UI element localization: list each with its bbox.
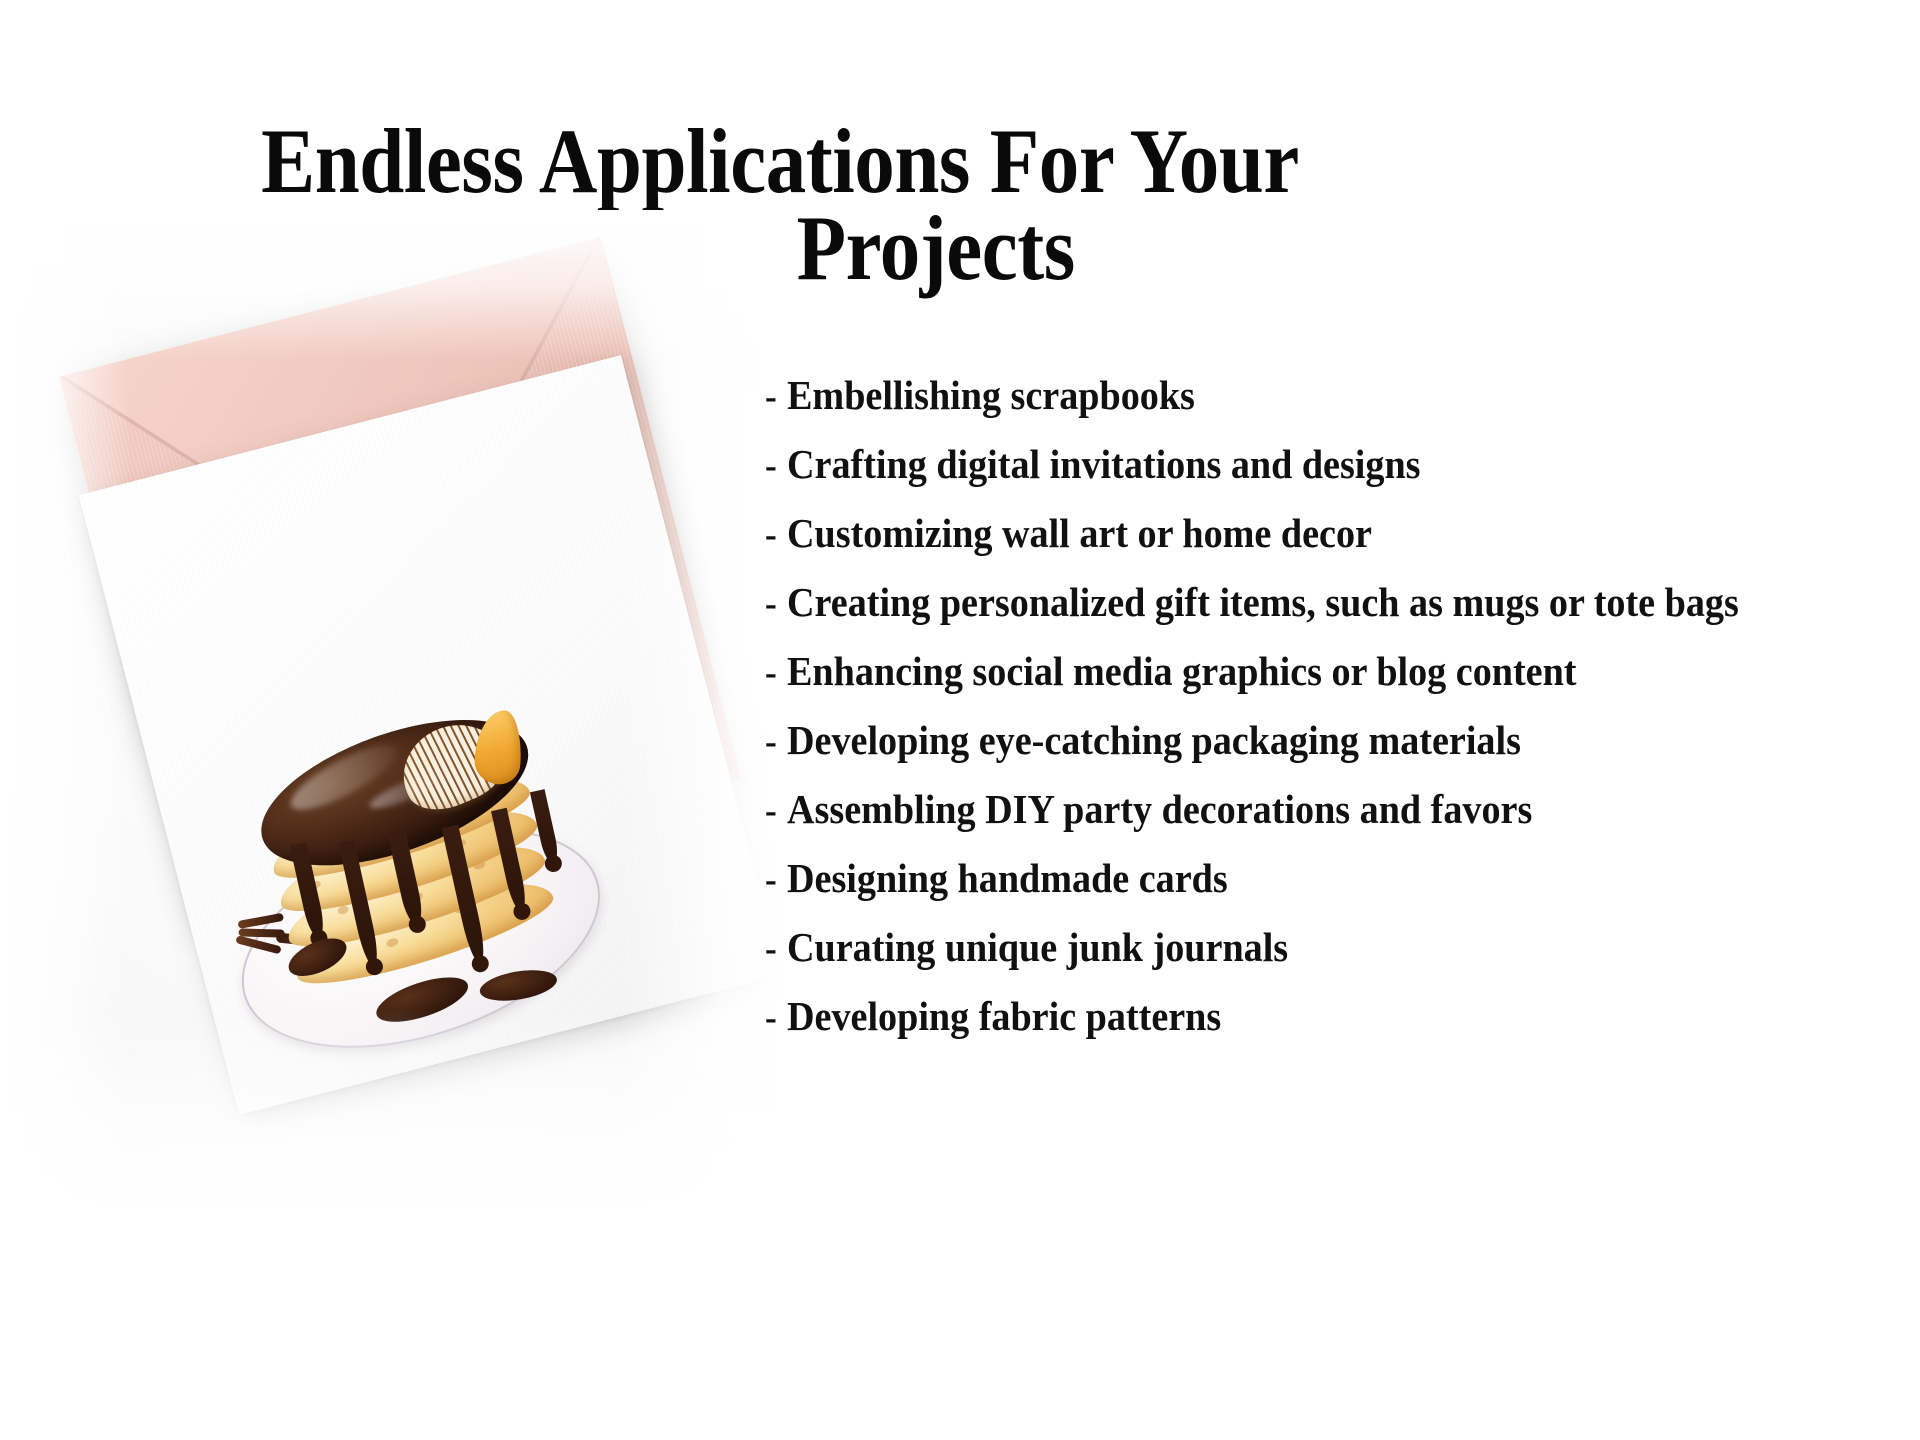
fork-tine (237, 913, 284, 929)
pancake-speck (385, 937, 399, 948)
list-item-label: Customizing wall art or home decor (787, 513, 1372, 554)
list-bullet-dash: - (765, 516, 777, 554)
list-item-label: Creating personalized gift items, such a… (787, 582, 1739, 623)
list-bullet-dash: - (765, 999, 777, 1037)
list-bullet-dash: - (765, 792, 777, 830)
list-item-label: Developing eye-catching packaging materi… (787, 720, 1521, 761)
list-bullet-dash: - (765, 930, 777, 968)
list-bullet-dash: - (765, 723, 777, 761)
list-item-label: Crafting digital invitations and designs (787, 444, 1421, 485)
list-item-label: Curating unique junk journals (787, 927, 1288, 968)
fork-tine (235, 935, 282, 954)
page-title-line-1: Endless Applications For Your (94, 118, 1467, 205)
product-mockup-photo (0, 210, 790, 1220)
list-item: - Enhancing social media graphics or blo… (765, 651, 1825, 720)
list-item: - Curating unique junk journals (765, 927, 1825, 996)
list-item-label: Enhancing social media graphics or blog … (787, 651, 1577, 692)
list-bullet-dash: - (765, 585, 777, 623)
promo-graphic: Endless Applications For Your Creative P… (0, 0, 1920, 1440)
list-item-label: Assembling DIY party decorations and fav… (787, 789, 1532, 830)
list-item: - Assembling DIY party decorations and f… (765, 789, 1825, 858)
list-bullet-dash: - (765, 861, 777, 899)
list-item-label: Designing handmade cards (787, 858, 1228, 899)
list-item: - Developing fabric patterns (765, 996, 1825, 1065)
list-item: - Creating personalized gift items, such… (765, 582, 1825, 651)
list-item: - Designing handmade cards (765, 858, 1825, 927)
applications-list: - Embellishing scrapbooks - Crafting dig… (765, 375, 1905, 1065)
list-bullet-dash: - (765, 654, 777, 692)
photo-edge-fade-bottom (0, 1010, 790, 1220)
list-item: - Crafting digital invitations and desig… (765, 444, 1825, 513)
list-item: - Embellishing scrapbooks (765, 375, 1825, 444)
list-bullet-dash: - (765, 447, 777, 485)
list-bullet-dash: - (765, 378, 777, 416)
list-item: - Developing eye-catching packaging mate… (765, 720, 1825, 789)
list-item: - Customizing wall art or home decor (765, 513, 1825, 582)
list-item-label: Embellishing scrapbooks (787, 375, 1195, 416)
list-item-label: Developing fabric patterns (787, 996, 1221, 1037)
